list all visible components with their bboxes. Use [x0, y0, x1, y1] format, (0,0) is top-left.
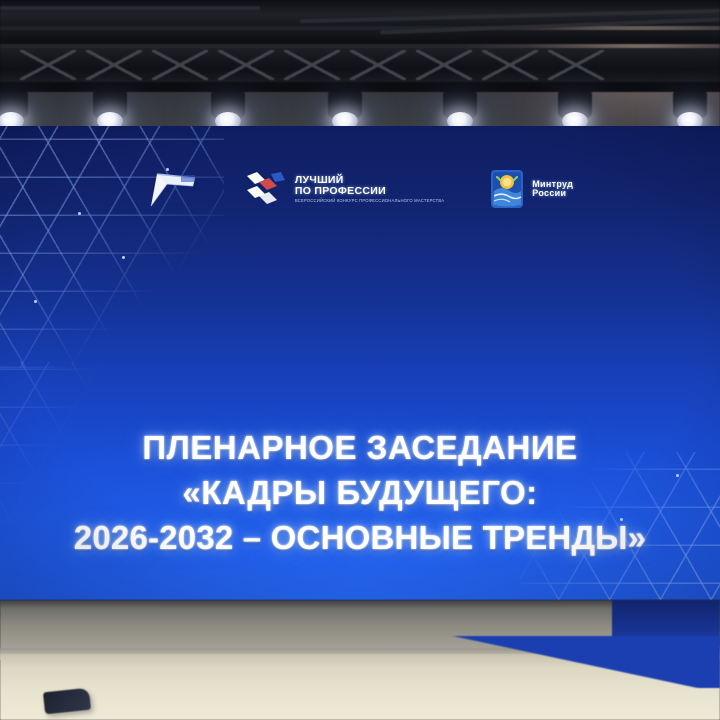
logo-label-line2: России [532, 189, 573, 198]
logo-row: ЛУЧШИЙ ПО ПРОФЕССИИ ВСЕРОССИЙСКИЙ КОНКУР… [0, 158, 720, 220]
stage-scene-photo: ЛУЧШИЙ ПО ПРОФЕССИИ ВСЕРОССИЙСКИЙ КОНКУР… [0, 0, 720, 720]
truss-cross-brace [482, 50, 538, 80]
stage-floor-blue-wedge [390, 636, 720, 688]
title-line-1: ПЛЕНАРНОЕ ЗАСЕДАНИЕ [0, 426, 720, 470]
truss-cross-brace [86, 50, 142, 80]
title-line-2: «КАДРЫ БУДУЩЕГО: [0, 470, 720, 515]
logo-mintrud-text: Минтруд России [532, 180, 573, 199]
truss-beam-secondary [0, 30, 720, 44]
logo-sublabel: ВСЕРОССИЙСКИЙ КОНКУРС ПРОФЕССИОНАЛЬНОГО … [295, 199, 444, 203]
plenary-session-title: ПЛЕНАРНОЕ ЗАСЕДАНИЕ «КАДРЫ БУДУЩЕГО: 202… [0, 426, 720, 560]
title-line-3: 2026-2032 – ОСНОВНЫЕ ТРЕНДЫ» [0, 515, 720, 560]
logo-flag-emblem [147, 168, 199, 210]
truss-cross-brace [20, 50, 76, 80]
logo-luchshiy-po-professii: ЛУЧШИЙ ПО ПРОФЕССИИ ВСЕРОССИЙСКИЙ КОНКУР… [245, 170, 444, 208]
logo-luchshiy-text: ЛУЧШИЙ ПО ПРОФЕССИИ ВСЕРОССИЙСКИЙ КОНКУР… [295, 175, 444, 203]
mintrud-crest-icon [490, 169, 524, 209]
lattice-node [122, 256, 125, 259]
lattice-node [34, 300, 37, 303]
truss-cross-brace [152, 50, 208, 80]
logo-mintrud-rossii: Минтруд России [490, 169, 573, 209]
truss-cross-brace [416, 50, 472, 80]
chevron-arrows-icon [245, 170, 287, 208]
truss-cross-brace [284, 50, 340, 80]
truss-beam-lower [0, 82, 720, 92]
logo-label-line2: ПО ПРОФЕССИИ [295, 186, 444, 197]
ceiling-pipe [0, 6, 260, 10]
truss-cross-brace [350, 50, 406, 80]
truss-cross-brace [548, 50, 604, 80]
truss-cross-brace [218, 50, 274, 80]
folded-flag-icon [147, 168, 199, 210]
led-stage-screen: ЛУЧШИЙ ПО ПРОФЕССИИ ВСЕРОССИЙСКИЙ КОНКУР… [0, 126, 720, 604]
